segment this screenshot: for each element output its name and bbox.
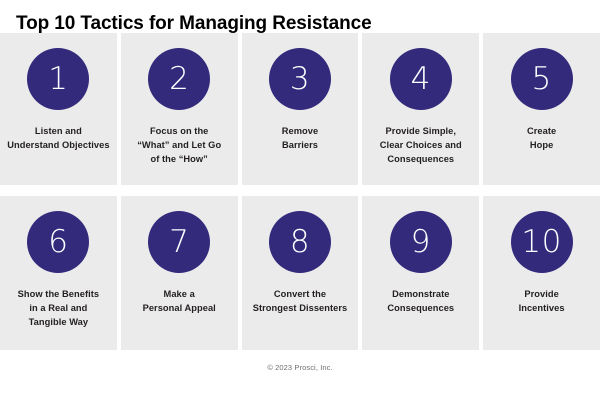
tactic-card-7: 7 Make a Personal Appeal: [121, 196, 238, 350]
tactic-number-badge-3: 3: [269, 48, 331, 110]
tactic-label-2: Focus on the “What” and Let Go of the “H…: [133, 124, 225, 166]
tactics-row-1: 1 Listen and Understand Objectives 2 Foc…: [0, 33, 600, 185]
infographic-root: Top 10 Tactics for Managing Resistance 1…: [0, 0, 600, 401]
tactic-label-1: Listen and Understand Objectives: [3, 124, 113, 152]
tactic-number-9: 9: [411, 227, 431, 258]
tactic-number-6: 6: [48, 227, 68, 258]
tactic-number-badge-6: 6: [27, 211, 89, 273]
tactics-row-2: 6 Show the Benefits in a Real and Tangib…: [0, 196, 600, 350]
tactic-number-badge-9: 9: [390, 211, 452, 273]
tactic-card-8: 8 Convert the Strongest Dissenters: [242, 196, 359, 350]
tactic-number-1: 1: [48, 64, 68, 95]
tactics-grid: 1 Listen and Understand Objectives 2 Foc…: [0, 33, 600, 350]
tactic-card-10: 10 Provide Incentives: [483, 196, 600, 350]
tactic-number-badge-8: 8: [269, 211, 331, 273]
tactic-card-2: 2 Focus on the “What” and Let Go of the …: [121, 33, 238, 185]
copyright-notice: © 2023 Prosci, Inc.: [0, 363, 600, 372]
tactic-number-badge-2: 2: [148, 48, 210, 110]
tactic-card-5: 5 Create Hope: [483, 33, 600, 185]
tactic-label-7: Make a Personal Appeal: [139, 287, 220, 315]
tactic-label-10: Provide Incentives: [515, 287, 569, 315]
tactic-number-5: 5: [531, 64, 551, 95]
tactic-card-3: 3 Remove Barriers: [242, 33, 359, 185]
tactic-number-8: 8: [290, 227, 310, 258]
tactic-number-2: 2: [169, 64, 189, 95]
tactic-number-badge-10: 10: [511, 211, 573, 273]
tactic-number-3: 3: [290, 64, 310, 95]
tactic-label-3: Remove Barriers: [278, 124, 322, 152]
tactic-number-badge-4: 4: [390, 48, 452, 110]
tactic-number-4: 4: [411, 64, 431, 95]
tactic-card-4: 4 Provide Simple, Clear Choices and Cons…: [362, 33, 479, 185]
tactic-label-4: Provide Simple, Clear Choices and Conseq…: [376, 124, 466, 166]
tactic-number-10: 10: [521, 227, 561, 258]
tactic-number-badge-1: 1: [27, 48, 89, 110]
tactic-label-9: Demonstrate Consequences: [383, 287, 458, 315]
tactic-card-9: 9 Demonstrate Consequences: [362, 196, 479, 350]
page-title: Top 10 Tactics for Managing Resistance: [0, 0, 600, 33]
tactic-label-6: Show the Benefits in a Real and Tangible…: [14, 287, 103, 329]
tactic-card-1: 1 Listen and Understand Objectives: [0, 33, 117, 185]
tactic-card-6: 6 Show the Benefits in a Real and Tangib…: [0, 196, 117, 350]
tactic-number-badge-5: 5: [511, 48, 573, 110]
tactic-number-badge-7: 7: [148, 211, 210, 273]
tactic-label-5: Create Hope: [523, 124, 560, 152]
tactic-label-8: Convert the Strongest Dissenters: [249, 287, 352, 315]
tactic-number-7: 7: [169, 227, 189, 258]
